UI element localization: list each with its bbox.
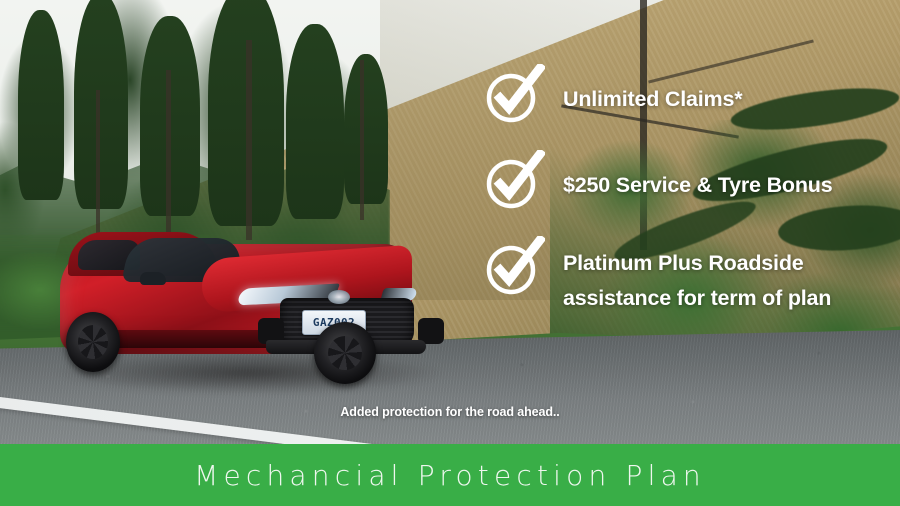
feature-item-platinum-roadside: Platinum Plus Roadside assistance for te… <box>483 242 893 316</box>
bottom-green-banner: Mechancial Protection Plan <box>0 444 900 506</box>
feature-list: Unlimited Claims* $250 Service & Tyre Bo… <box>483 70 893 316</box>
check-circle-icon <box>483 236 545 298</box>
plan-title: Mechancial Protection Plan <box>194 459 706 492</box>
car-side-mirror <box>140 272 166 285</box>
check-circle-icon <box>483 150 545 212</box>
feature-item-unlimited-claims: Unlimited Claims* <box>483 70 893 126</box>
car-wheel-front <box>314 322 376 384</box>
conifer-tree <box>344 54 388 204</box>
feature-label: Platinum Plus Roadside assistance for te… <box>563 242 831 316</box>
tree-trunk <box>96 90 100 240</box>
car-wheel-rear <box>66 312 120 372</box>
mechanical-protection-plan-ad: GAZ002 Unlimited Claims* <box>0 0 900 506</box>
feature-item-service-tyre-bonus: $250 Service & Tyre Bonus <box>483 156 893 212</box>
feature-label: Unlimited Claims* <box>563 70 742 117</box>
tagline-caption: Added protection for the road ahead.. <box>0 405 900 419</box>
car-emblem <box>328 290 350 304</box>
conifer-tree <box>286 24 344 219</box>
check-circle-icon <box>483 64 545 126</box>
tree-trunk <box>360 60 364 220</box>
conifer-tree <box>74 0 128 209</box>
tree-trunk <box>246 40 252 240</box>
red-hatchback-car: GAZ002 <box>52 226 452 388</box>
conifer-tree <box>18 10 64 200</box>
feature-label: $250 Service & Tyre Bonus <box>563 156 832 203</box>
background-photo: GAZ002 Unlimited Claims* <box>0 0 900 446</box>
tree-trunk <box>166 70 171 235</box>
